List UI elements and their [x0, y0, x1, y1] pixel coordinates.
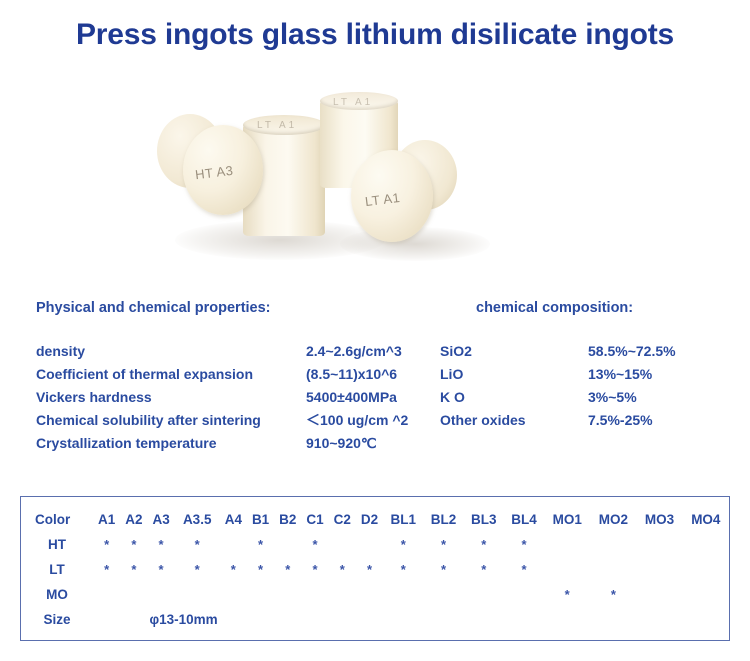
physical-properties-heading: Physical and chemical properties: — [36, 300, 436, 316]
column-header: C1 — [301, 507, 328, 532]
asterisk-icon: * — [481, 562, 486, 577]
shade-available-mark: * — [590, 582, 636, 607]
composition-key: Other oxides — [440, 409, 588, 432]
chemical-composition-heading: chemical composition: — [440, 300, 740, 316]
column-header: A3 — [147, 507, 174, 532]
shade-available-mark: * — [120, 532, 147, 557]
shade-available-mark: * — [356, 557, 383, 582]
asterisk-icon: * — [104, 537, 109, 552]
table-header-row: Color A1 A2 A3 A3.5 A4 B1 B2 C1 C2 D2 BL… — [21, 507, 729, 532]
engraving-ht-a3: HT A3 — [194, 163, 234, 183]
asterisk-icon: * — [258, 562, 263, 577]
physical-row: Crystallization temperature 910~920℃ — [36, 432, 436, 455]
column-header: BL3 — [464, 507, 504, 532]
shade-available-mark: * — [504, 557, 544, 582]
shade-empty-cell — [356, 582, 383, 607]
asterisk-icon: * — [340, 562, 345, 577]
physical-value: (8.5~11)x10^6 — [306, 363, 397, 386]
column-header: MO3 — [636, 507, 682, 532]
physical-value: ＜100 ug/cm ^2 — [306, 409, 408, 432]
physical-row: density 2.4~2.6g/cm^3 — [36, 340, 436, 363]
shade-empty-cell — [175, 582, 220, 607]
shade-available-mark: * — [247, 557, 274, 582]
physical-key: Coefficient of thermal expansion — [36, 363, 306, 386]
physical-key: Chemical solubility after sintering — [36, 409, 306, 432]
shade-available-mark: * — [175, 532, 220, 557]
physical-value: 2.4~2.6g/cm^3 — [306, 340, 402, 363]
asterisk-icon: * — [231, 562, 236, 577]
ingot-ht-a3: HT A3 — [183, 125, 263, 215]
row-label-ht: HT — [21, 532, 93, 557]
asterisk-icon: * — [195, 537, 200, 552]
table-row: HT********** — [21, 532, 729, 557]
shade-available-mark: * — [274, 557, 301, 582]
row-label-lt: LT — [21, 557, 93, 582]
shade-available-mark: * — [247, 532, 274, 557]
row-label-mo: MO — [21, 582, 93, 607]
asterisk-icon: * — [441, 562, 446, 577]
column-header: MO2 — [590, 507, 636, 532]
shade-empty-cell — [590, 532, 636, 557]
shade-empty-cell — [93, 582, 120, 607]
asterisk-icon: * — [611, 587, 616, 602]
ingot-lt-a1: LT A1 — [351, 150, 433, 242]
asterisk-icon: * — [159, 562, 164, 577]
shade-available-mark: * — [504, 532, 544, 557]
physical-value: 5400±400MPa — [306, 386, 397, 409]
asterisk-icon: * — [367, 562, 372, 577]
size-value: φ13-10mm — [147, 607, 729, 632]
shade-available-mark: * — [147, 532, 174, 557]
shade-available-mark: * — [301, 532, 328, 557]
physical-key: density — [36, 340, 306, 363]
asterisk-icon: * — [441, 537, 446, 552]
shade-empty-cell — [636, 557, 682, 582]
shade-empty-cell — [274, 582, 301, 607]
asterisk-icon: * — [258, 537, 263, 552]
shade-availability-table: Color A1 A2 A3 A3.5 A4 B1 B2 C1 C2 D2 BL… — [20, 496, 730, 641]
shade-available-mark: * — [329, 557, 356, 582]
composition-key: K O — [440, 386, 588, 409]
composition-value: 13%~15% — [588, 363, 652, 386]
shade-empty-cell — [683, 532, 729, 557]
column-header: B2 — [274, 507, 301, 532]
shade-empty-cell — [301, 582, 328, 607]
table-corner-label: Color — [21, 507, 93, 532]
shade-empty-cell — [590, 557, 636, 582]
composition-row: K O 3%~5% — [440, 386, 740, 409]
table-row-size: Sizeφ13-10mm — [21, 607, 729, 632]
shade-table: Color A1 A2 A3 A3.5 A4 B1 B2 C1 C2 D2 BL… — [21, 507, 729, 632]
asterisk-icon: * — [521, 562, 526, 577]
physical-key: Vickers hardness — [36, 386, 306, 409]
shade-available-mark: * — [93, 557, 120, 582]
shade-empty-cell — [464, 582, 504, 607]
shade-available-mark: * — [544, 582, 590, 607]
engraving-lt-a1-back: LT A1 — [333, 97, 373, 108]
physical-row: Coefficient of thermal expansion (8.5~11… — [36, 363, 436, 386]
asterisk-icon: * — [481, 537, 486, 552]
shade-empty-cell — [423, 582, 463, 607]
shade-available-mark: * — [93, 532, 120, 557]
composition-key: LiO — [440, 363, 588, 386]
column-header: D2 — [356, 507, 383, 532]
column-header: MO4 — [683, 507, 729, 532]
size-row-spacer — [93, 607, 147, 632]
asterisk-icon: * — [401, 537, 406, 552]
asterisk-icon: * — [159, 537, 164, 552]
shade-empty-cell — [544, 557, 590, 582]
physical-key: Crystallization temperature — [36, 432, 306, 455]
asterisk-icon: * — [131, 562, 136, 577]
shade-available-mark: * — [464, 532, 504, 557]
shade-empty-cell — [329, 532, 356, 557]
asterisk-icon: * — [195, 562, 200, 577]
column-header: A4 — [220, 507, 247, 532]
shade-empty-cell — [329, 582, 356, 607]
shade-available-mark: * — [301, 557, 328, 582]
asterisk-icon: * — [285, 562, 290, 577]
shade-empty-cell — [636, 532, 682, 557]
physical-row: Vickers hardness 5400±400MPa — [36, 386, 436, 409]
column-header: BL2 — [423, 507, 463, 532]
table-body: HT**********LT**************MO**Sizeφ13-… — [21, 532, 729, 632]
table-row: MO** — [21, 582, 729, 607]
shade-empty-cell — [683, 582, 729, 607]
table-row: LT************** — [21, 557, 729, 582]
column-header: A3.5 — [175, 507, 220, 532]
shade-empty-cell — [383, 582, 423, 607]
column-header: B1 — [247, 507, 274, 532]
shade-available-mark: * — [383, 532, 423, 557]
shade-available-mark: * — [147, 557, 174, 582]
column-header: BL4 — [504, 507, 544, 532]
page-title: Press ingots glass lithium disilicate in… — [0, 18, 750, 52]
composition-row: Other oxides 7.5%-25% — [440, 409, 740, 432]
shade-empty-cell — [274, 532, 301, 557]
column-header: MO1 — [544, 507, 590, 532]
product-photo: LT A1 LT A1 HT A3 LT A1 — [155, 92, 475, 262]
shade-empty-cell — [120, 582, 147, 607]
composition-value: 58.5%~72.5% — [588, 340, 676, 363]
composition-value: 7.5%-25% — [588, 409, 653, 432]
asterisk-icon: * — [313, 537, 318, 552]
shade-empty-cell — [247, 582, 274, 607]
asterisk-icon: * — [104, 562, 109, 577]
shade-empty-cell — [504, 582, 544, 607]
composition-row: LiO 13%~15% — [440, 363, 740, 386]
column-header: A1 — [93, 507, 120, 532]
column-header: A2 — [120, 507, 147, 532]
shade-available-mark: * — [220, 557, 247, 582]
composition-value: 3%~5% — [588, 386, 637, 409]
column-header: BL1 — [383, 507, 423, 532]
physical-row: Chemical solubility after sintering ＜100… — [36, 409, 436, 432]
shade-available-mark: * — [120, 557, 147, 582]
shade-available-mark: * — [383, 557, 423, 582]
shade-empty-cell — [544, 532, 590, 557]
asterisk-icon: * — [565, 587, 570, 602]
engraving-lt-a1-middle: LT A1 — [257, 120, 297, 131]
row-label-size: Size — [21, 607, 93, 632]
asterisk-icon: * — [401, 562, 406, 577]
shade-empty-cell — [683, 557, 729, 582]
shade-available-mark: * — [423, 557, 463, 582]
shade-empty-cell — [220, 532, 247, 557]
shade-empty-cell — [356, 532, 383, 557]
composition-key: SiO2 — [440, 340, 588, 363]
shade-empty-cell — [636, 582, 682, 607]
shade-available-mark: * — [175, 557, 220, 582]
asterisk-icon: * — [131, 537, 136, 552]
shade-available-mark: * — [464, 557, 504, 582]
engraving-lt-a1-front: LT A1 — [364, 190, 401, 209]
asterisk-icon: * — [521, 537, 526, 552]
physical-value: 910~920℃ — [306, 432, 377, 455]
physical-properties-section: Physical and chemical properties: densit… — [36, 300, 436, 455]
chemical-composition-section: chemical composition: SiO2 58.5%~72.5% L… — [440, 300, 740, 432]
shade-available-mark: * — [423, 532, 463, 557]
composition-row: SiO2 58.5%~72.5% — [440, 340, 740, 363]
shade-empty-cell — [147, 582, 174, 607]
shade-empty-cell — [220, 582, 247, 607]
asterisk-icon: * — [313, 562, 318, 577]
column-header: C2 — [329, 507, 356, 532]
